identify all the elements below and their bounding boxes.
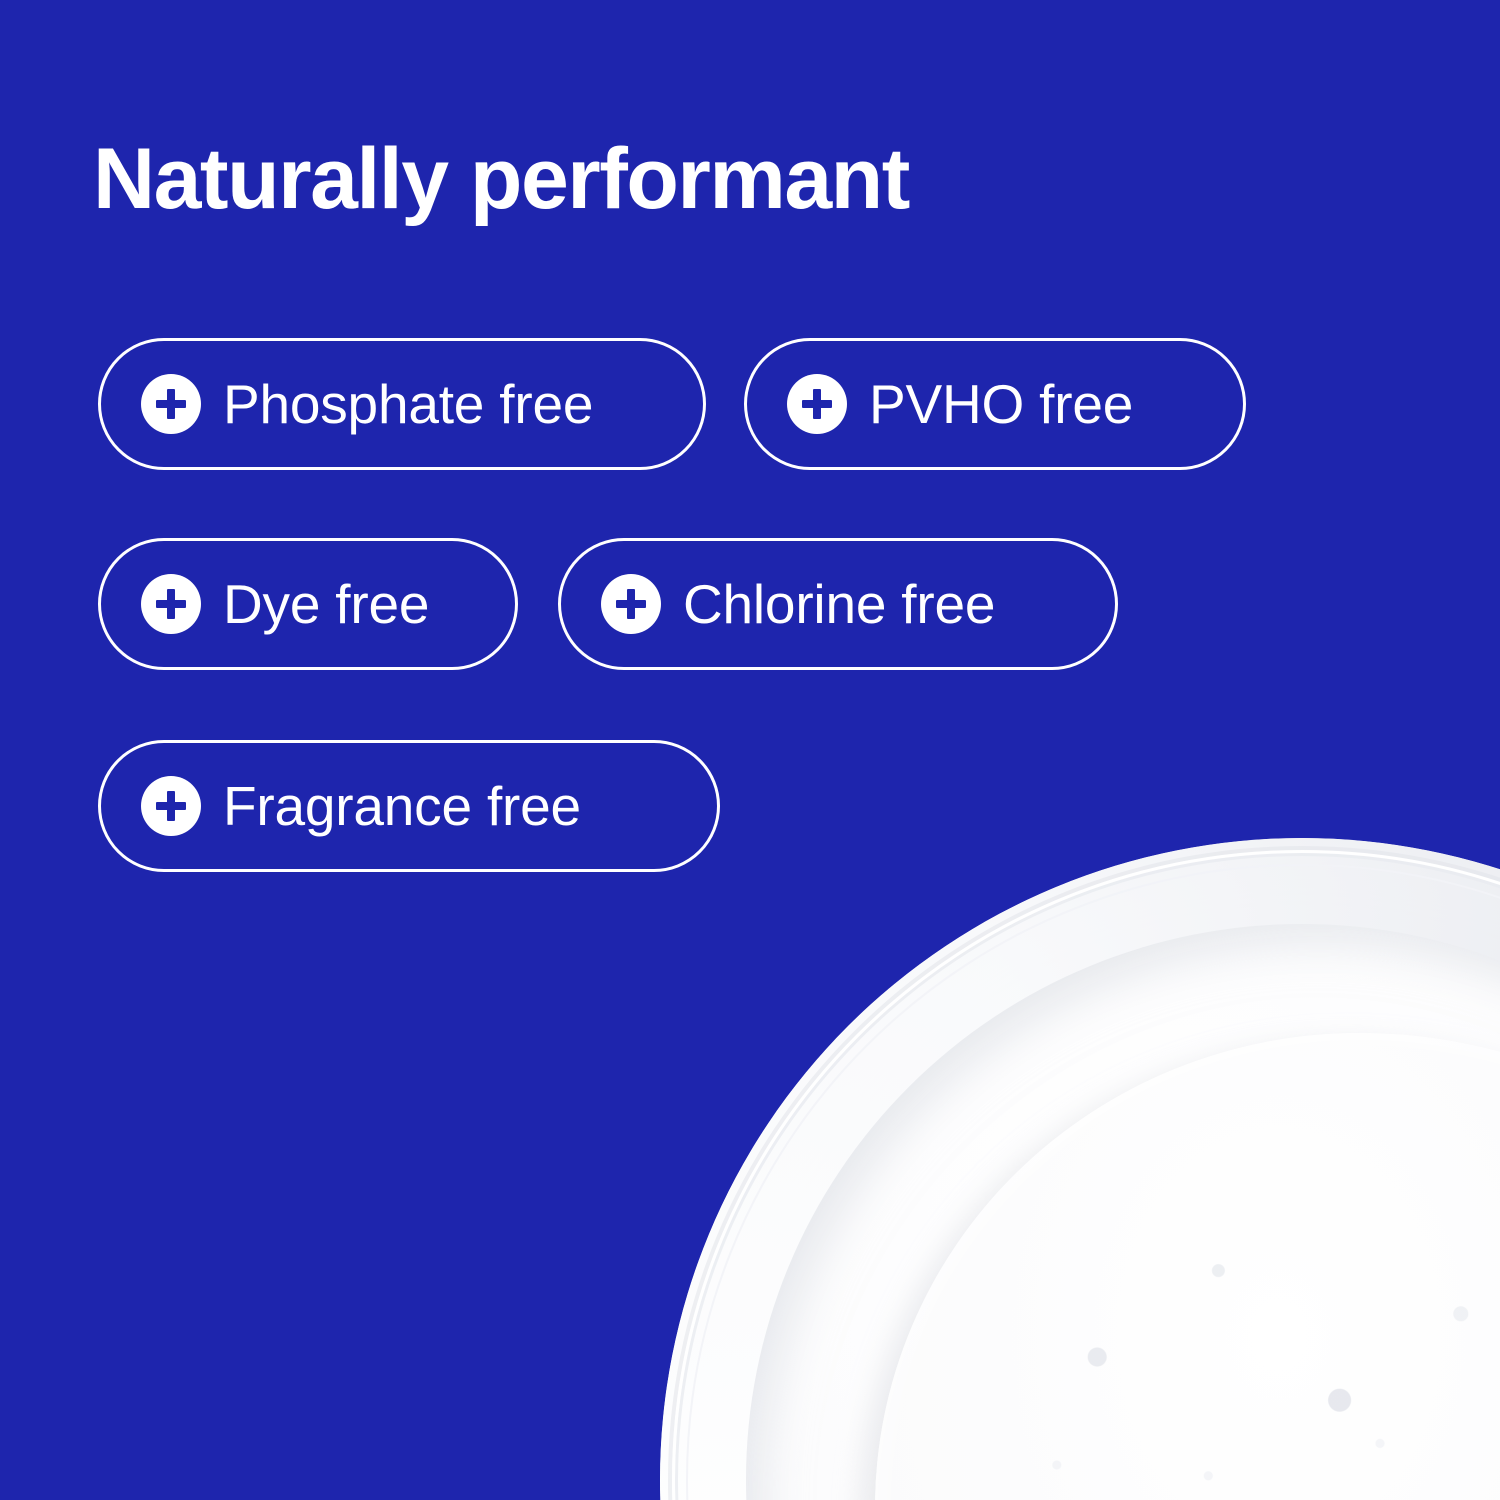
badge-dye-free: Dye free [98, 538, 518, 670]
promo-banner: Naturally performant Phosphate free PVHO… [0, 0, 1500, 1500]
badge-fragrance-free: Fragrance free [98, 740, 720, 872]
badge-label: Chlorine free [683, 572, 995, 636]
product-photo-bowl [660, 838, 1500, 1500]
badge-label: Dye free [223, 572, 429, 636]
badge-label: Phosphate free [223, 372, 593, 436]
plus-circle-icon [141, 374, 201, 434]
plus-circle-icon [601, 574, 661, 634]
plus-circle-icon [787, 374, 847, 434]
badge-label: PVHO free [869, 372, 1133, 436]
page-title: Naturally performant [93, 136, 909, 222]
badge-pvho-free: PVHO free [744, 338, 1246, 470]
plus-circle-icon [141, 776, 201, 836]
badge-label: Fragrance free [223, 774, 581, 838]
plus-circle-icon [141, 574, 201, 634]
badge-chlorine-free: Chlorine free [558, 538, 1118, 670]
badge-phosphate-free: Phosphate free [98, 338, 706, 470]
